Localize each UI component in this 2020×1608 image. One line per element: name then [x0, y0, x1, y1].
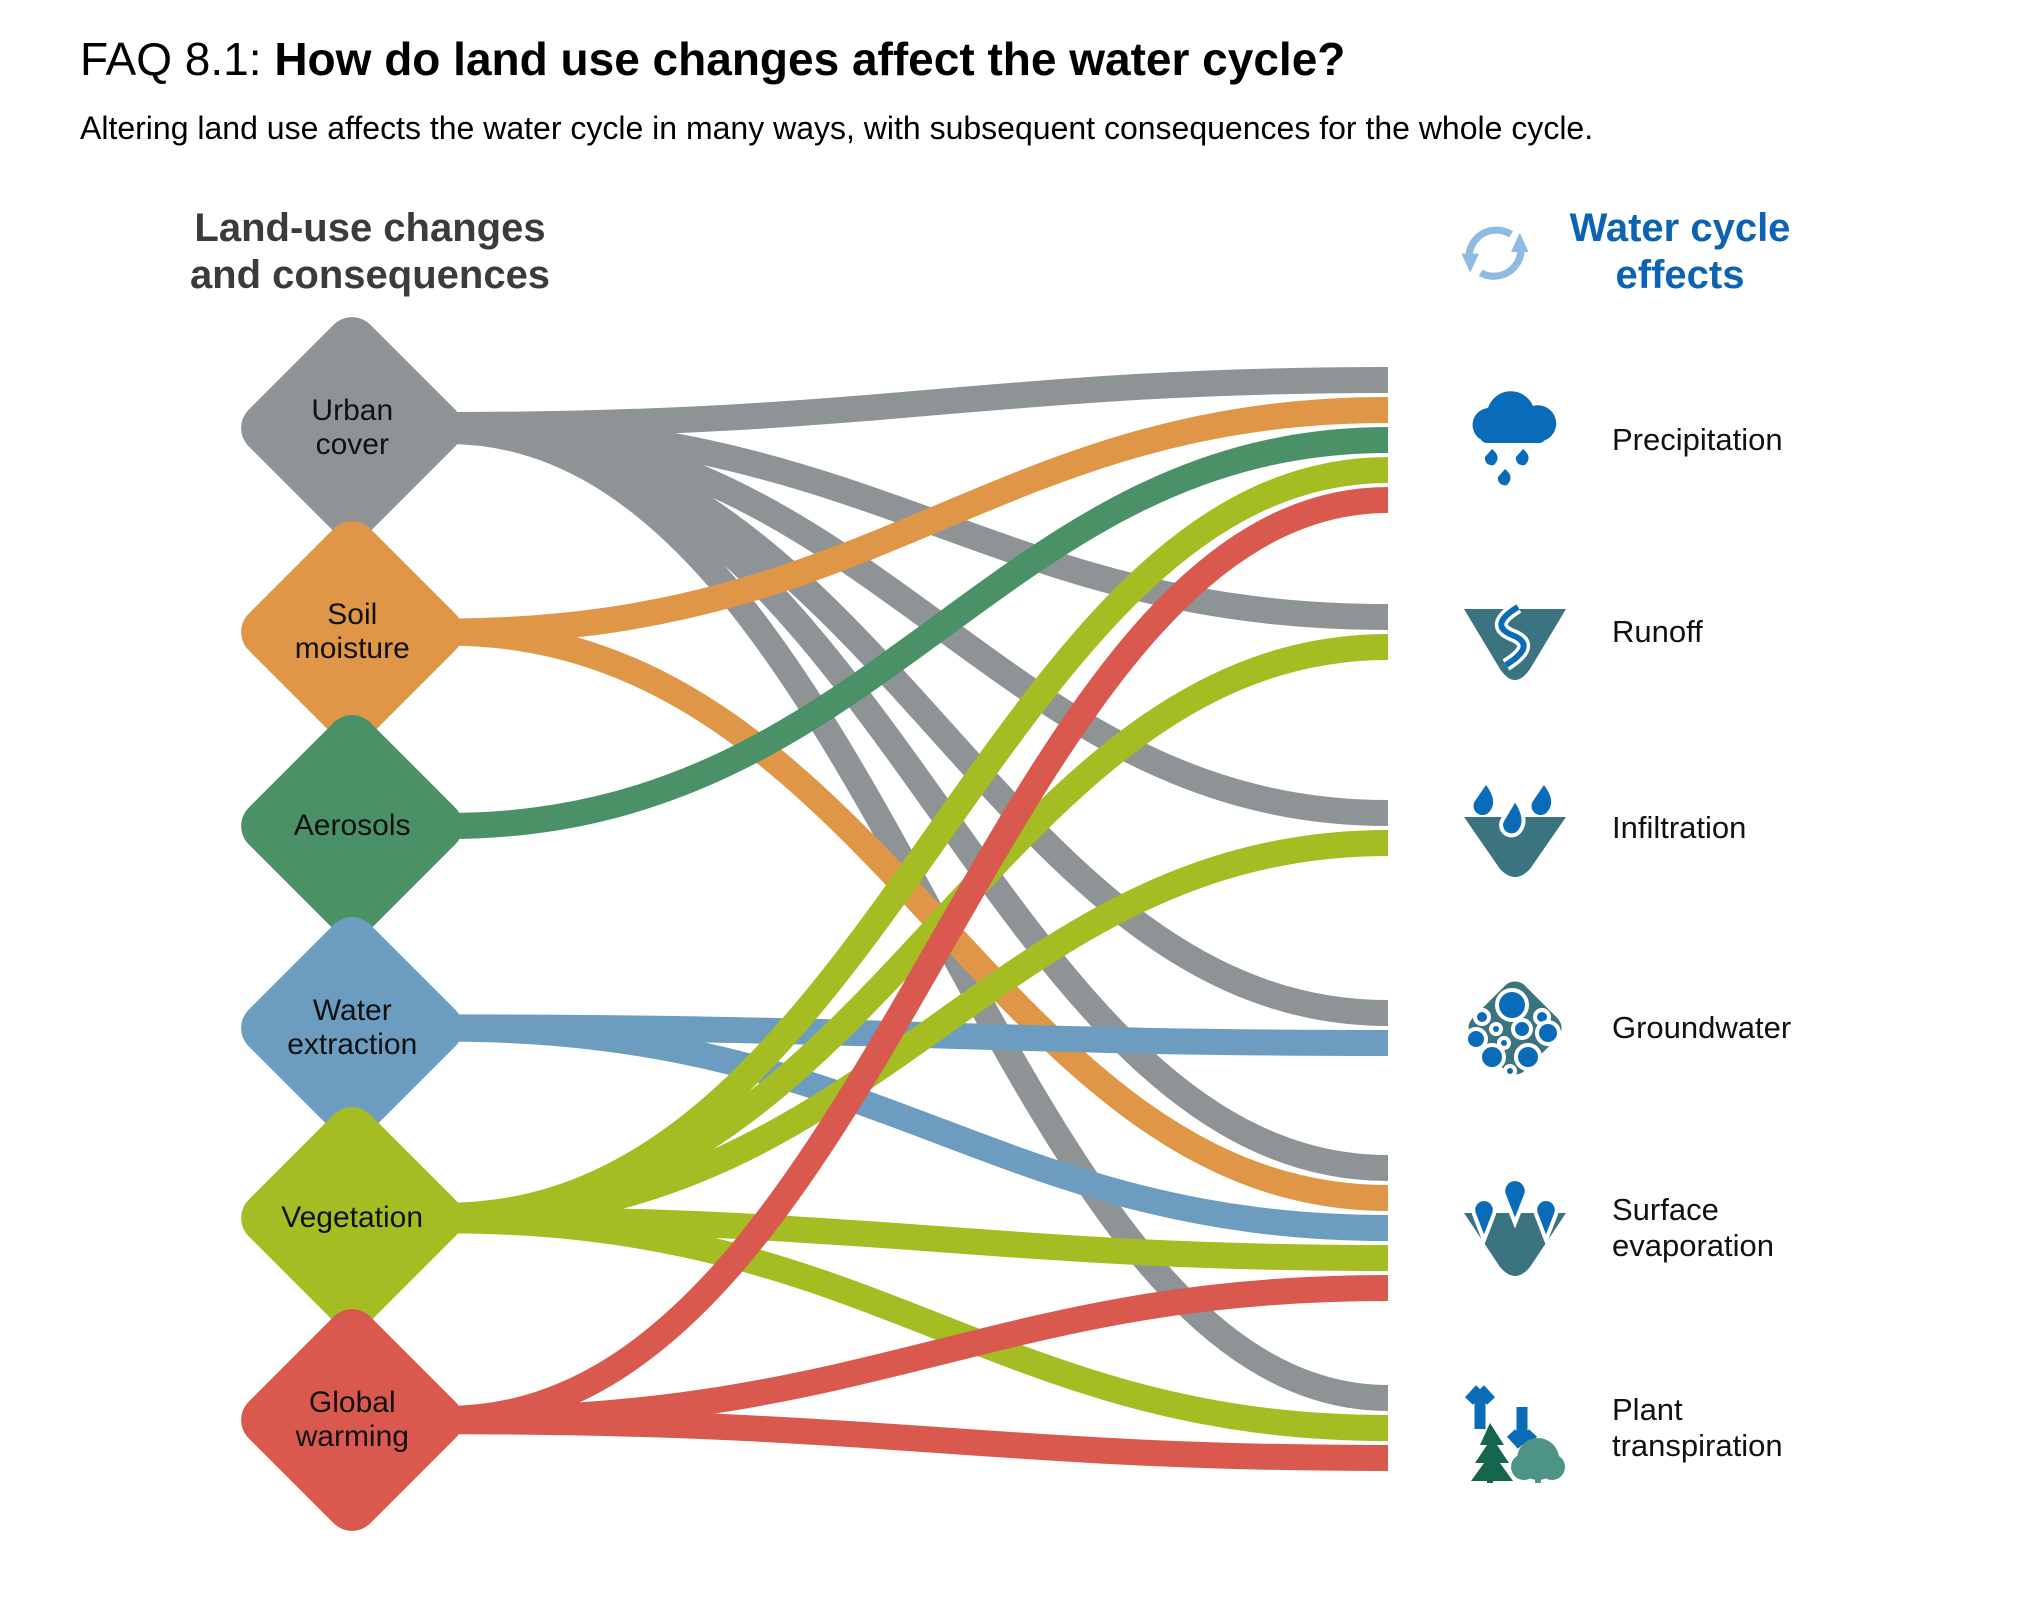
effect-node-precipitation[interactable]: Precipitation: [1460, 385, 1783, 495]
effect-node-label: Surface evaporation: [1612, 1192, 1774, 1263]
rain-cloud-icon: [1460, 385, 1570, 495]
river-runoff-icon: [1460, 577, 1570, 687]
plant-transpiration-icon: [1460, 1373, 1570, 1483]
infiltration-drops-icon: [1460, 773, 1570, 883]
effect-node-label: Groundwater: [1612, 1010, 1791, 1046]
driver-node-label: Water extraction: [266, 994, 438, 1061]
effect-node-label: Plant transpiration: [1612, 1392, 1783, 1463]
driver-node-label: Urban cover: [266, 394, 438, 461]
driver-node-label: Aerosols: [266, 809, 438, 843]
effect-node-runoff[interactable]: Runoff: [1460, 577, 1703, 687]
effect-node-label: Infiltration: [1612, 810, 1746, 846]
surface-evaporation-icon: [1460, 1173, 1570, 1283]
driver-node-label: Soil moisture: [266, 598, 438, 665]
driver-node-label: Global warming: [266, 1386, 438, 1453]
effect-node-surface_evap[interactable]: Surface evaporation: [1460, 1173, 1774, 1283]
effect-node-label: Precipitation: [1612, 422, 1783, 458]
flow-link-vegetation-to-precipitation: [448, 470, 1388, 1216]
groundwater-bubbles-icon: [1460, 973, 1570, 1083]
effect-node-infiltration[interactable]: Infiltration: [1460, 773, 1746, 883]
driver-node-label: Vegetation: [266, 1201, 438, 1235]
effect-node-label: Runoff: [1612, 614, 1703, 650]
effect-node-transpiration[interactable]: Plant transpiration: [1460, 1373, 1783, 1483]
effect-node-groundwater[interactable]: Groundwater: [1460, 973, 1791, 1083]
